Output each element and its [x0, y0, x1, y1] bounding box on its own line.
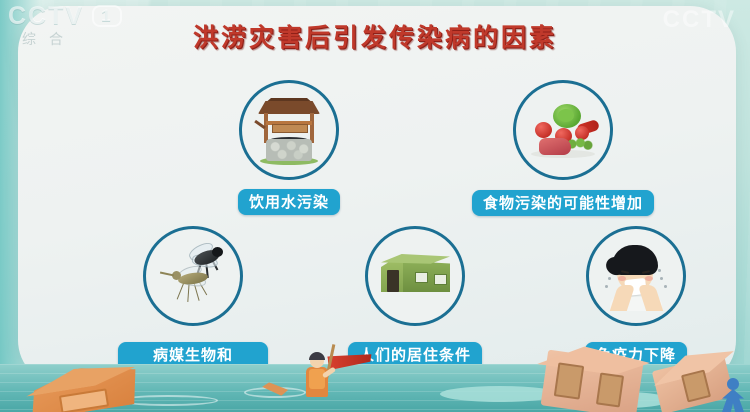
- page-title: 洪涝灾害后引发传染病的因素: [0, 18, 750, 54]
- factor-label-well: 饮用水污染: [238, 189, 340, 215]
- flood-scene: [0, 344, 750, 412]
- factor-node-well: 饮用水污染: [238, 80, 340, 215]
- water-well-icon: [239, 80, 339, 180]
- factor-label-food: 食物污染的可能性增加: [472, 190, 654, 216]
- factor-node-food: 食物污染的可能性增加: [472, 80, 654, 216]
- fly-mosquito-icon: [143, 226, 243, 326]
- tent-icon: [365, 226, 465, 326]
- rescue-figure-right: [720, 378, 746, 412]
- rescue-worker: [300, 354, 336, 406]
- house-window: [554, 362, 584, 399]
- sneezing-person-icon: [586, 226, 686, 326]
- broadcast-slide: CCTV 1 综合 CCTV 洪涝灾害后引发传染病的因素 饮用水污染: [0, 0, 750, 412]
- vegetables-food-icon: [513, 80, 613, 180]
- house-window: [596, 372, 624, 407]
